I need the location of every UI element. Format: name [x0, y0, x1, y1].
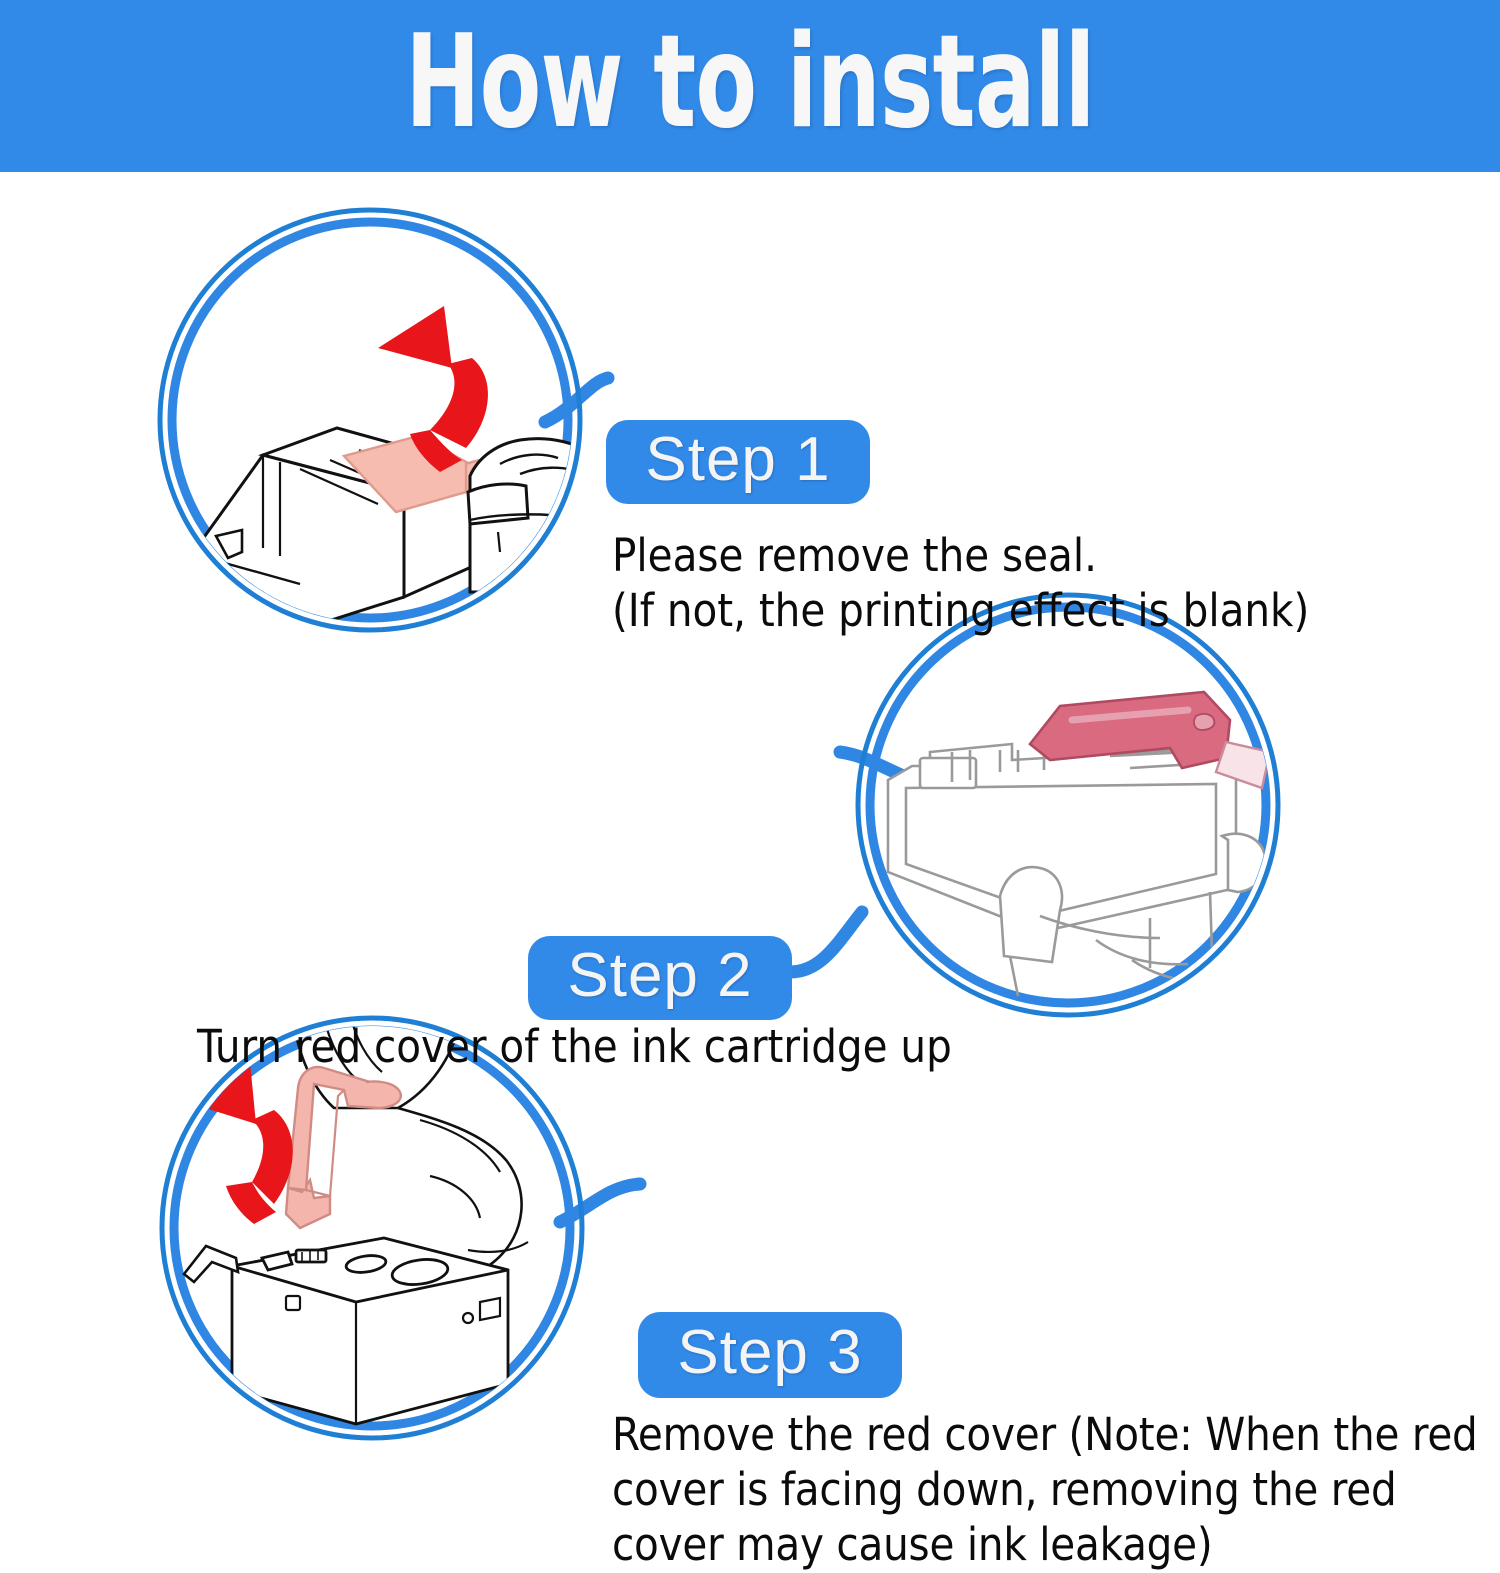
illustration-step-2 [858, 595, 1278, 1015]
step-badge-3[interactable]: Step 3 [638, 1312, 902, 1398]
red-cover-icon [286, 1067, 401, 1228]
step-2-caption-line-1: Turn red cover of the ink cartridge up [197, 1020, 952, 1075]
step-badge-1[interactable]: Step 1 [606, 420, 870, 504]
step-badge-1-label: Step 1 [645, 429, 830, 491]
step-badge-3-label: Step 3 [677, 1322, 862, 1384]
step-3-caption-line-1: Remove the red cover (Note: When the red [612, 1408, 1478, 1463]
ink-cartridge-icon [184, 1238, 508, 1424]
page-title: How to install [405, 19, 1094, 147]
step-badge-2-label: Step 2 [567, 945, 752, 1007]
step-1-caption-line-1: Please remove the seal. [612, 529, 1309, 584]
step-badge-2[interactable]: Step 2 [528, 936, 792, 1020]
red-curved-arrow-icon [186, 1062, 293, 1224]
step-3-caption-line-2: cover is facing down, removing the red [612, 1463, 1478, 1518]
steps-stage: Step 1 Step 2 Step 3 Please remove the s… [0, 172, 1500, 1471]
step-1-caption-line-2: (If not, the printing effect is blank) [612, 584, 1309, 639]
step-3-caption-line-3: cover may cause ink leakage) [612, 1518, 1478, 1573]
hand-icon [468, 439, 608, 592]
connector-step-2 [790, 912, 862, 972]
header-banner: How to install [0, 0, 1500, 172]
illustration-step-1 [160, 210, 608, 666]
step-3-caption: Remove the red cover (Note: When the red… [612, 1408, 1478, 1573]
step-2-caption: Turn red cover of the ink cartridge up [197, 1020, 952, 1075]
illustrations-canvas [0, 172, 1500, 1471]
step-1-caption: Please remove the seal. (If not, the pri… [612, 529, 1309, 639]
